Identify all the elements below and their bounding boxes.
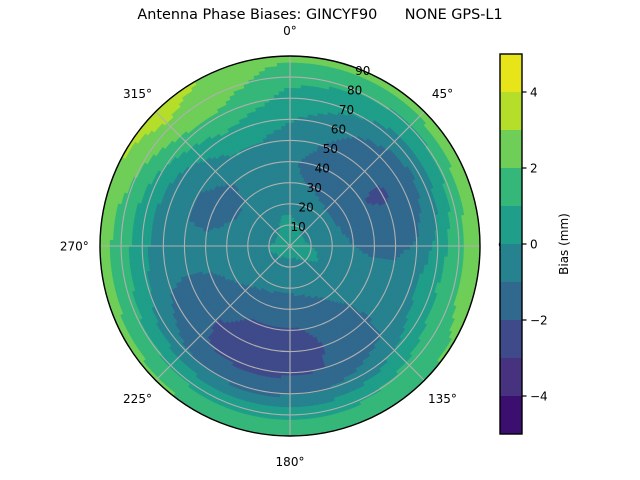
contour-cell bbox=[398, 246, 401, 250]
contour-cell bbox=[445, 246, 448, 252]
contour-cell bbox=[290, 88, 296, 91]
contour-cell bbox=[451, 246, 454, 252]
contour-cell bbox=[429, 246, 432, 251]
contour-cell bbox=[410, 246, 413, 250]
contour-cell bbox=[404, 246, 407, 250]
contour-cell bbox=[448, 246, 451, 252]
contour-cell bbox=[420, 246, 423, 251]
contour-cell bbox=[464, 240, 467, 246]
contour-cell bbox=[290, 59, 297, 62]
contour-cell bbox=[442, 246, 445, 251]
contour-cell bbox=[401, 246, 404, 250]
contour-cell bbox=[432, 246, 435, 251]
contour-cell bbox=[467, 246, 470, 252]
contour-cell bbox=[401, 242, 404, 246]
contour-cell bbox=[429, 241, 432, 246]
contour-cell bbox=[451, 240, 454, 246]
contour-cell bbox=[432, 241, 435, 246]
contour-cell bbox=[290, 81, 296, 84]
contour-cell bbox=[464, 246, 467, 252]
contour-cell bbox=[290, 100, 295, 103]
contour-cell bbox=[404, 242, 407, 246]
contour-cell bbox=[290, 113, 295, 116]
contour-cell bbox=[369, 240, 372, 243]
contour-cell bbox=[423, 246, 426, 251]
figure-canvas: Antenna Phase Biases: GINCYF90 NONE GPS-… bbox=[0, 0, 640, 480]
contour-cell bbox=[445, 240, 448, 246]
contour-cell bbox=[407, 246, 410, 250]
polar-contour-svg[interactable]: 0°45°90135°180°225°270°315°1020304050607… bbox=[80, 36, 500, 456]
polar-plot-axes[interactable]: 0°45°90135°180°225°270°315°1020304050607… bbox=[80, 36, 500, 456]
contour-cell bbox=[290, 132, 294, 135]
contour-cell bbox=[290, 104, 295, 107]
contour-cell bbox=[290, 78, 296, 81]
contour-cell bbox=[382, 239, 385, 242]
contour-cell bbox=[290, 94, 295, 97]
contour-cell bbox=[439, 246, 442, 251]
contour-cell bbox=[426, 246, 429, 251]
contour-cell bbox=[398, 242, 401, 246]
contour-cell bbox=[290, 66, 296, 69]
contour-cell bbox=[290, 85, 296, 88]
contour-cell bbox=[474, 239, 477, 246]
contour-cell bbox=[290, 107, 295, 110]
contour-cell bbox=[290, 135, 294, 138]
contour-cell bbox=[470, 246, 473, 252]
contour-cell bbox=[290, 123, 294, 126]
contour-cell bbox=[290, 126, 294, 129]
contour-cell bbox=[407, 242, 410, 246]
contour-cell bbox=[420, 241, 423, 246]
contour-cell bbox=[467, 240, 470, 246]
contour-cell bbox=[461, 240, 464, 246]
contour-cell bbox=[410, 242, 413, 246]
contour-cell bbox=[375, 240, 378, 243]
contour-cell bbox=[442, 241, 445, 246]
contour-cell bbox=[290, 69, 296, 72]
contour-cell bbox=[470, 240, 473, 246]
contour-cell bbox=[461, 246, 464, 252]
contour-cell bbox=[290, 110, 295, 113]
contour-cell bbox=[423, 241, 426, 246]
contour-cell bbox=[290, 62, 296, 65]
contour-cell bbox=[290, 91, 295, 94]
contour-cell bbox=[426, 241, 429, 246]
contour-cell bbox=[290, 72, 296, 75]
contour-cell bbox=[455, 246, 458, 252]
contour-cell bbox=[455, 240, 458, 246]
contour-cell bbox=[448, 240, 451, 246]
page-title: Antenna Phase Biases: GINCYF90 NONE GPS-… bbox=[0, 7, 640, 23]
contour-cell bbox=[474, 246, 477, 253]
contour-cell bbox=[290, 129, 294, 132]
contour-cell bbox=[378, 240, 381, 243]
contour-cell bbox=[439, 241, 442, 246]
